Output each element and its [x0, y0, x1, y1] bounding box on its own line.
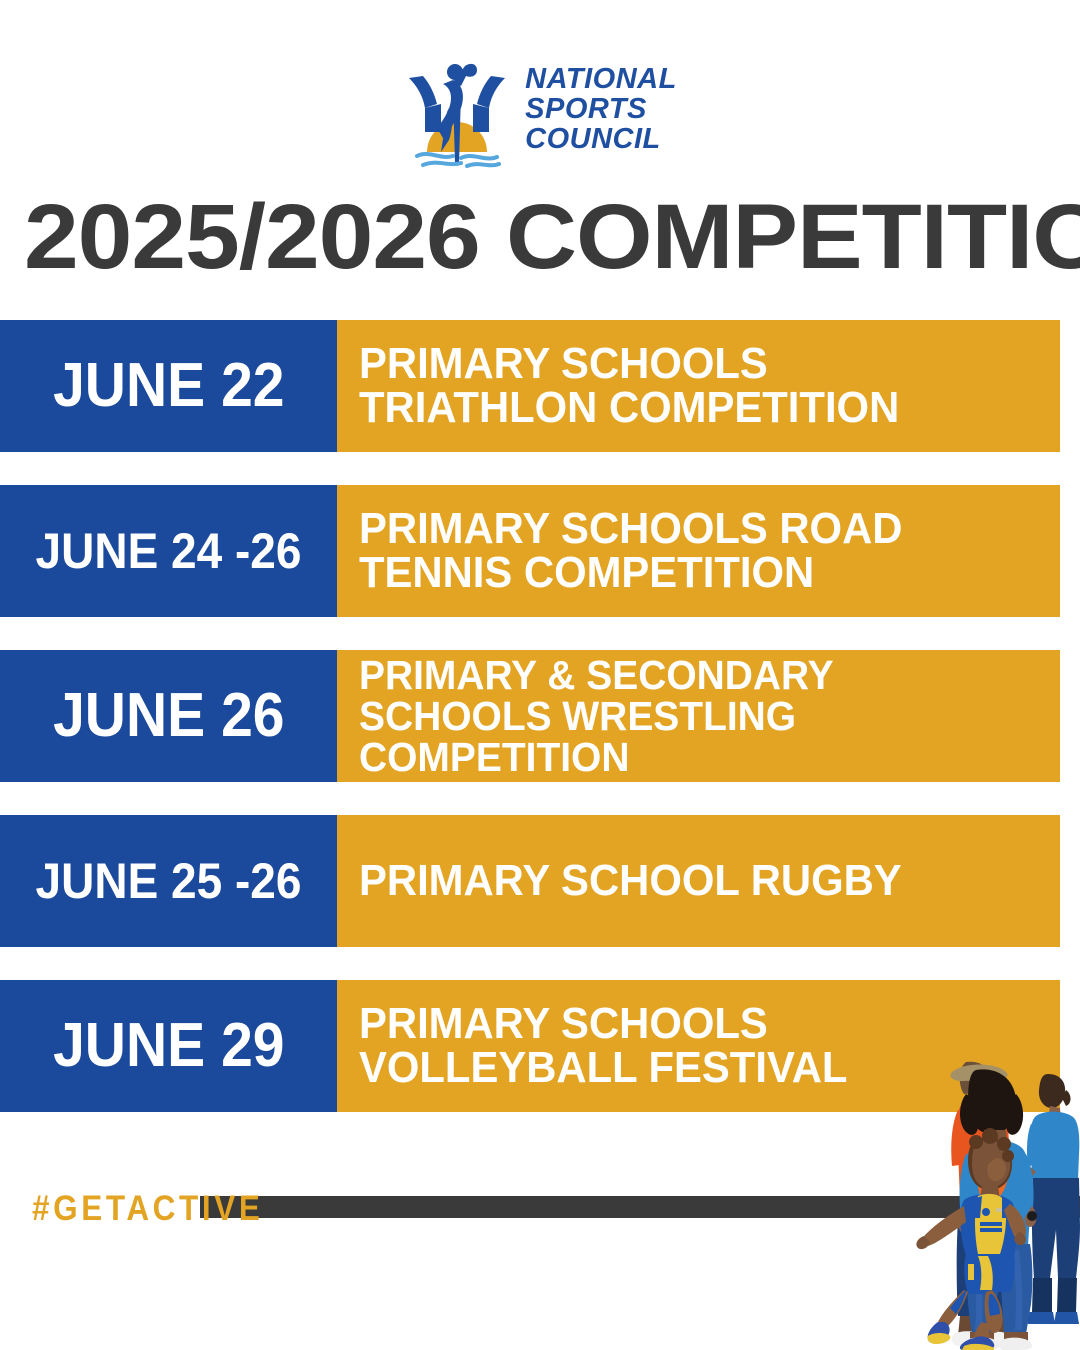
schedule-date-label: JUNE 26 [53, 685, 284, 747]
schedule-row: JUNE 26 PRIMARY & SECONDARY SCHOOLS WRES… [0, 650, 1060, 782]
schedule-date-label: JUNE 29 [53, 1015, 284, 1077]
logo-wordmark: NATIONAL SPORTS COUNCIL [525, 65, 677, 155]
schedule-event-label: PRIMARY SCHOOLS VOLLEYBALL FESTIVAL [359, 1002, 1008, 1090]
schedule-event-label: PRIMARY SCHOOLS ROAD TENNIS COMPETITION [359, 507, 1008, 595]
schedule-event-cell: PRIMARY SCHOOLS ROAD TENNIS COMPETITION [337, 485, 1060, 617]
schedule-event-cell: PRIMARY & SECONDARY SCHOOLS WRESTLING CO… [337, 650, 1060, 782]
schedule-row: JUNE 25 -26 PRIMARY SCHOOL RUGBY [0, 815, 1060, 947]
campaign-hashtag: #GETACTIVE [32, 1191, 263, 1226]
logo-line-1: NATIONAL [525, 65, 677, 95]
schedule-event-label: PRIMARY SCHOOL RUGBY [359, 859, 902, 903]
schedule-event-cell: PRIMARY SCHOOL RUGBY [337, 815, 1060, 947]
logo-line-2: SPORTS [525, 95, 677, 125]
schedule-date-cell: JUNE 22 [0, 320, 337, 452]
schedule-event-cell: PRIMARY SCHOOLS TRIATHLON COMPETITION [337, 320, 1060, 452]
schedule-row: JUNE 29 PRIMARY SCHOOLS VOLLEYBALL FESTI… [0, 980, 1060, 1112]
schedule-event-label: PRIMARY SCHOOLS TRIATHLON COMPETITION [359, 342, 1008, 430]
schedule-row: JUNE 22 PRIMARY SCHOOLS TRIATHLON COMPET… [0, 320, 1060, 452]
logo-line-3: COUNCIL [525, 125, 677, 155]
schedule-row: JUNE 24 -26 PRIMARY SCHOOLS ROAD TENNIS … [0, 485, 1060, 617]
poster-canvas: NATIONAL SPORTS COUNCIL 2025/2026 COMPET… [0, 0, 1080, 1350]
schedule-date-cell: JUNE 29 [0, 980, 337, 1112]
schedule-date-label: JUNE 24 -26 [36, 526, 302, 576]
schedule-date-label: JUNE 22 [53, 355, 284, 417]
schedule-date-cell: JUNE 25 -26 [0, 815, 337, 947]
schedule-date-label: JUNE 25 -26 [36, 856, 302, 906]
schedule-date-cell: JUNE 26 [0, 650, 337, 782]
young-athlete-runner [916, 1128, 1026, 1350]
page-title: 2025/2026 COMPETITIONS [24, 194, 1080, 281]
schedule-event-label: PRIMARY & SECONDARY SCHOOLS WRESTLING CO… [359, 655, 1008, 778]
schedule-event-cell: PRIMARY SCHOOLS VOLLEYBALL FESTIVAL [337, 980, 1060, 1112]
schedule-date-cell: JUNE 24 -26 [0, 485, 337, 617]
competition-schedule-list: JUNE 22 PRIMARY SCHOOLS TRIATHLON COMPET… [0, 320, 1060, 1112]
organization-logo: NATIONAL SPORTS COUNCIL [0, 52, 1080, 168]
footer: #GETACTIVE [0, 1186, 1080, 1230]
trident-athlete-logo-icon [403, 52, 511, 168]
